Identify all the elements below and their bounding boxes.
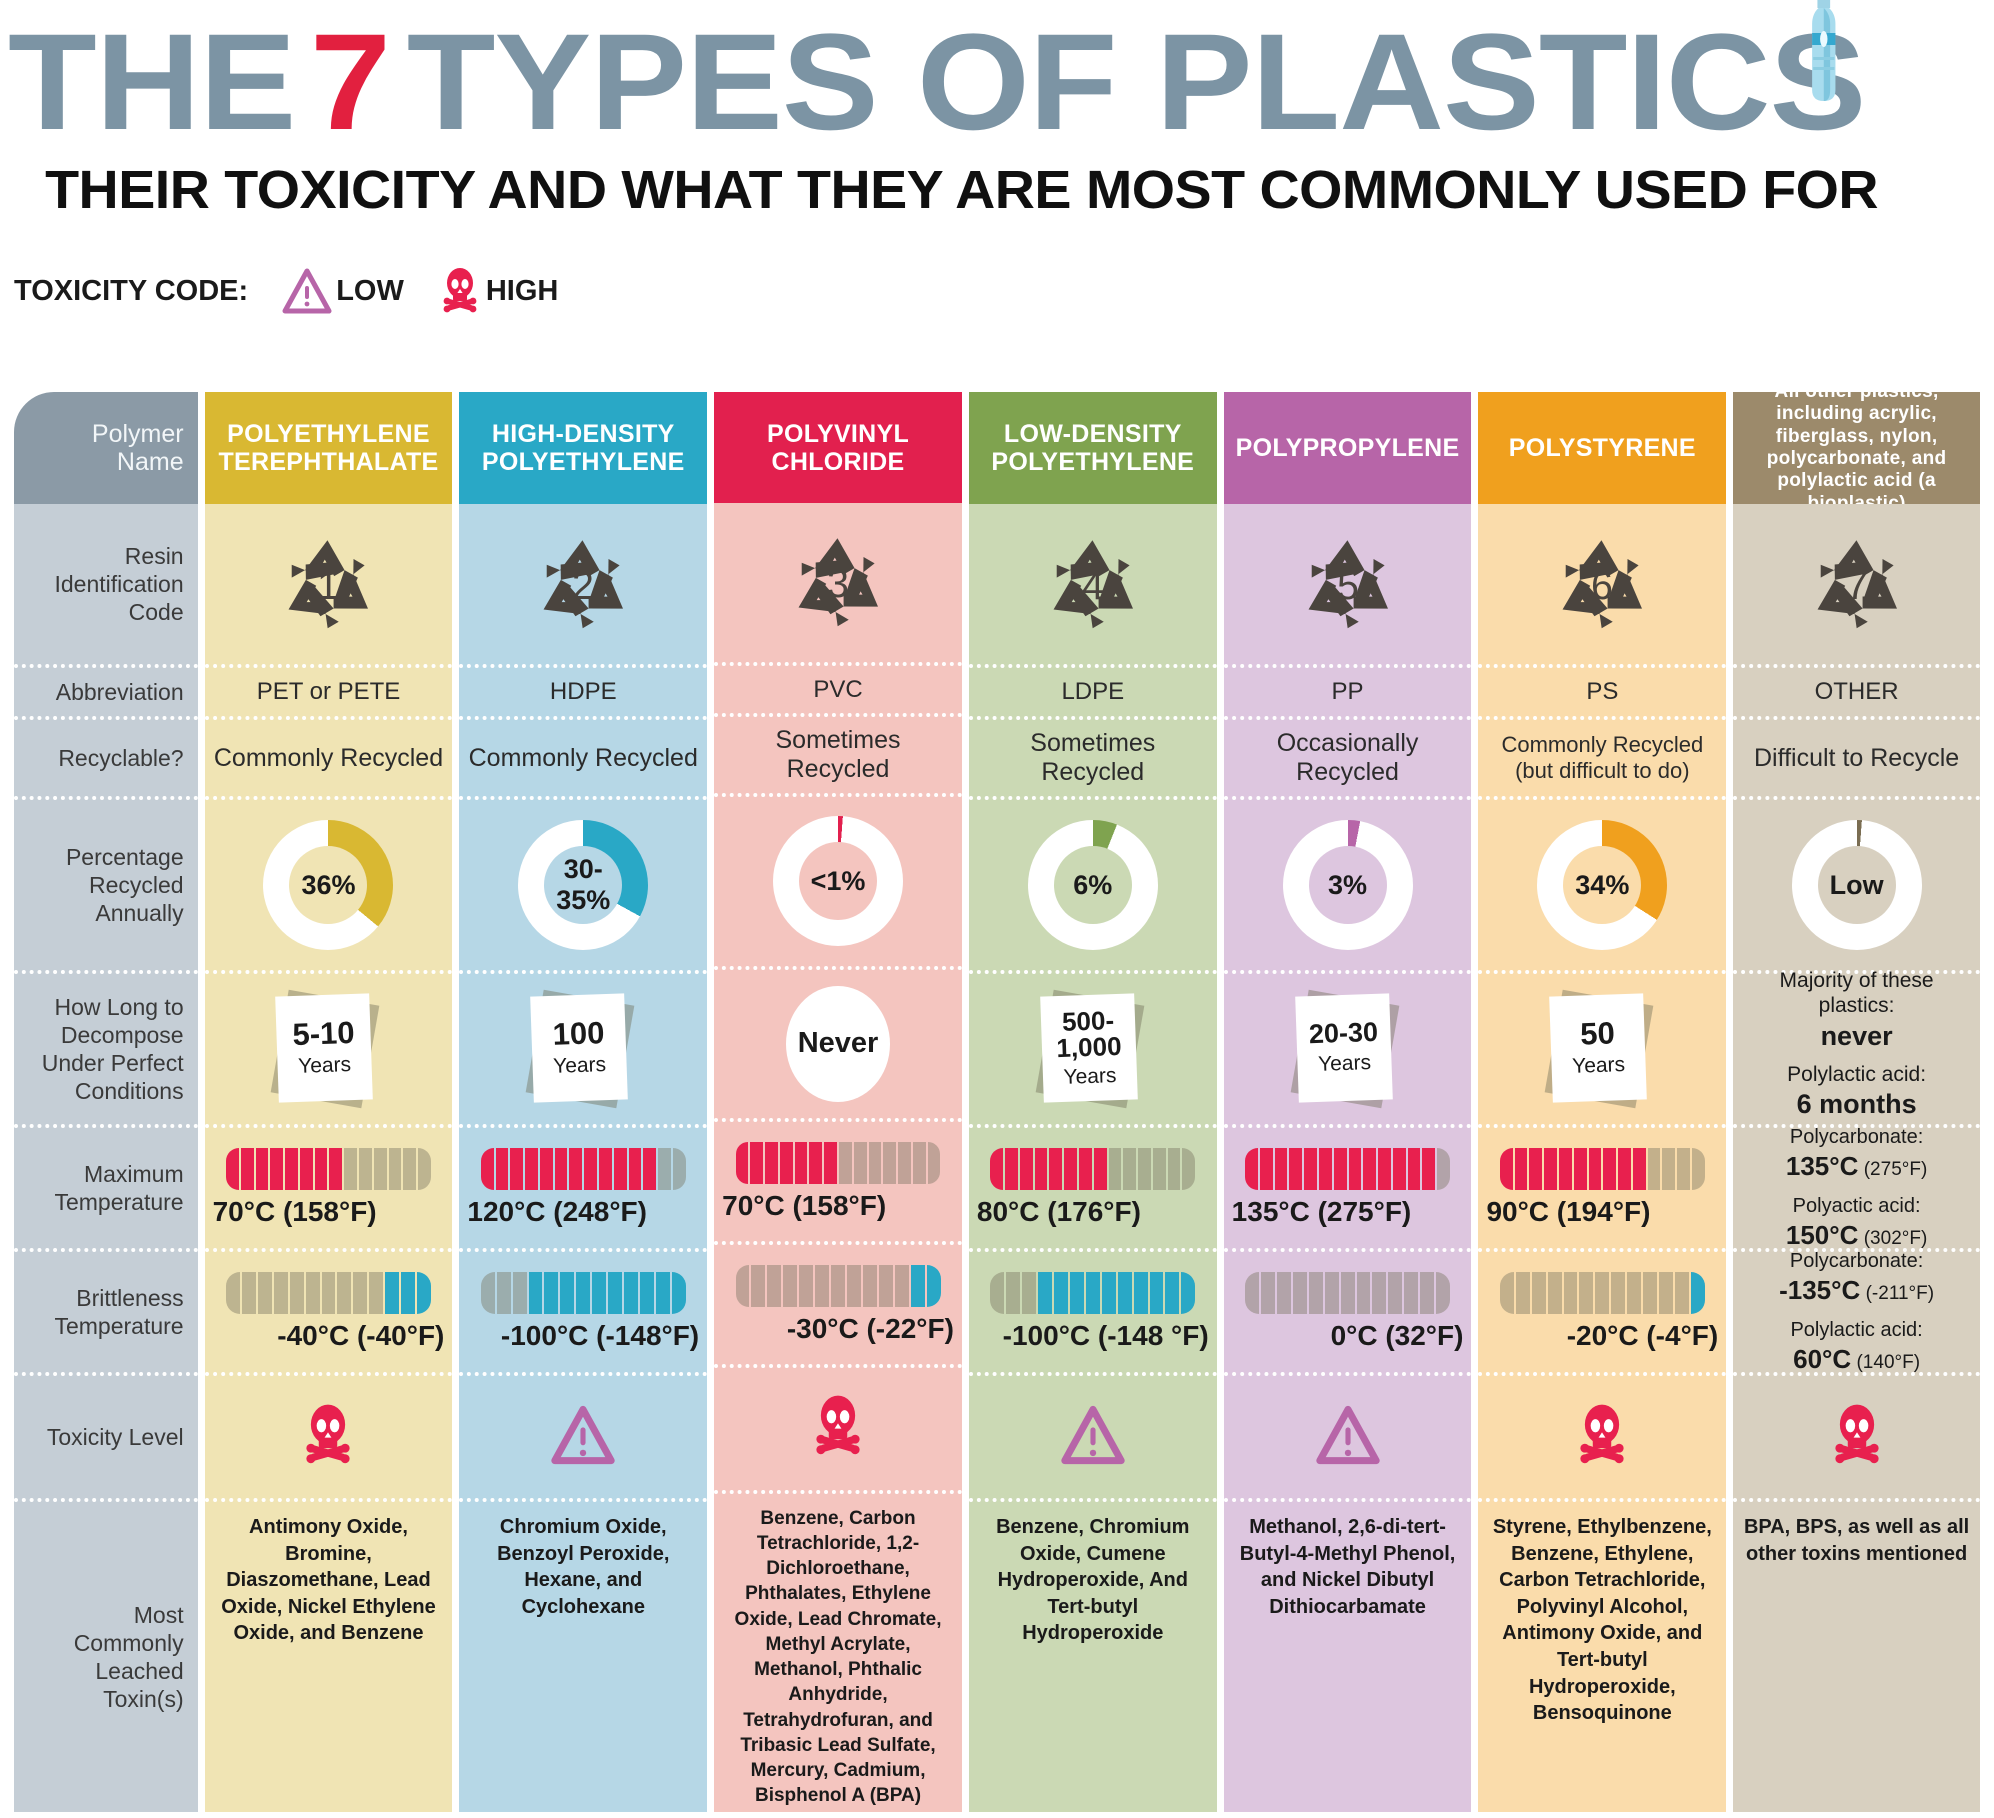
decompose-card-front: 5-10Years bbox=[276, 993, 374, 1102]
abbreviation: PS bbox=[1478, 664, 1726, 716]
brittleness-temperature: -40°C (-40°F) bbox=[205, 1248, 453, 1372]
recycled-percentage-donut: <1% bbox=[773, 816, 903, 946]
temperature-bar-segment bbox=[315, 1148, 328, 1190]
temperature-bar-segment bbox=[1150, 1272, 1164, 1314]
temperature-bar-segment bbox=[1404, 1272, 1418, 1314]
max-value2-f: (302°F) bbox=[1858, 1228, 1927, 1249]
brittleness-temperature: Polycarbonate:-135°C (-211°F)Polylactic … bbox=[1733, 1248, 1980, 1372]
decompose-line2: Polylactic acid: bbox=[1787, 1063, 1926, 1086]
max-line2: Polyactic acid: bbox=[1786, 1194, 1927, 1219]
brittleness-temperature: -100°C (-148 °F) bbox=[969, 1248, 1217, 1372]
plastic-column-2: HIGH-DENSITY POLYETHYLENE2HDPECommonly R… bbox=[459, 392, 707, 1812]
maximum-temperature: 90°C (194°F) bbox=[1478, 1124, 1726, 1248]
decompose-value: 500-1,000 bbox=[1055, 1006, 1122, 1060]
recyclable-status: Occasionally Recycled bbox=[1224, 716, 1472, 796]
decompose-time: 5-10Years bbox=[205, 970, 453, 1124]
recycled-percentage-value: <1% bbox=[799, 842, 877, 920]
percentage-recycled: 30-35% bbox=[459, 796, 707, 970]
column-header-3: POLYVINYL CHLORIDE bbox=[714, 392, 962, 503]
temperature-bar bbox=[736, 1265, 941, 1307]
brittleness-temperature-other: Polycarbonate:-135°C (-211°F)Polylactic … bbox=[1779, 1249, 1934, 1376]
temperature-bar-segment bbox=[1675, 1272, 1689, 1314]
recycling-symbol-icon: 7 bbox=[1793, 525, 1921, 643]
recyclable-status: Commonly Recycled bbox=[459, 716, 707, 796]
temperature-bar-segment bbox=[344, 1148, 357, 1190]
temperature-bar-segment bbox=[913, 1142, 926, 1184]
percentage-recycled: 6% bbox=[969, 796, 1217, 970]
temperature-bar-segment bbox=[285, 1148, 298, 1190]
temperature-bar-segment bbox=[555, 1148, 568, 1190]
temperature-bar bbox=[481, 1272, 686, 1314]
svg-text:1: 1 bbox=[318, 564, 340, 608]
brittleness-temperature-value: -100°C (-148°F) bbox=[501, 1320, 699, 1352]
svg-text:6: 6 bbox=[1591, 564, 1613, 608]
brit-line2: Polylactic acid: bbox=[1779, 1318, 1934, 1343]
decompose-value2: 6 months bbox=[1741, 1088, 1972, 1121]
warning-triangle-icon bbox=[1316, 1405, 1380, 1470]
percentage-recycled: Low bbox=[1733, 796, 1980, 970]
temperature-bar-segment bbox=[290, 1272, 304, 1314]
temperature-bar-segment bbox=[1564, 1272, 1578, 1314]
temperature-bar-segment bbox=[608, 1272, 622, 1314]
temperature-bar-segment bbox=[1662, 1148, 1675, 1190]
maximum-temperature-other: Polycarbonate:135°C (275°F)Polyactic aci… bbox=[1786, 1125, 1927, 1252]
recyclable-text: Occasionally Recycled bbox=[1232, 729, 1464, 787]
spacer bbox=[1779, 1306, 1934, 1318]
temperature-bar-segment bbox=[1574, 1148, 1587, 1190]
temperature-bar bbox=[736, 1142, 941, 1184]
svg-text:3: 3 bbox=[827, 562, 849, 606]
recycling-symbol-icon: 1 bbox=[264, 525, 392, 643]
recycled-percentage-value: 30-35% bbox=[544, 846, 622, 924]
plastic-column-1: POLYETHYLENE TEREPHTHALATE1PET or PETECo… bbox=[205, 392, 453, 1812]
leached-toxins: Chromium Oxide, Benzoyl Peroxide, Hexane… bbox=[459, 1498, 707, 1812]
temperature-bar-segment bbox=[529, 1272, 543, 1314]
warning-triangle-icon bbox=[551, 1405, 615, 1470]
maximum-temperature: 120°C (248°F) bbox=[459, 1124, 707, 1248]
recycled-percentage-donut: 6% bbox=[1028, 820, 1158, 950]
temperature-bar-segment bbox=[510, 1148, 523, 1190]
temperature-bar bbox=[990, 1148, 1195, 1190]
temperature-bar-segment bbox=[1618, 1148, 1631, 1190]
temperature-bar-segment bbox=[624, 1272, 638, 1314]
percentage-recycled: 3% bbox=[1224, 796, 1472, 970]
brit-value1-c: -135°C bbox=[1779, 1275, 1860, 1305]
temperature-bar-segment bbox=[928, 1142, 941, 1184]
temperature-bar-segment bbox=[1393, 1148, 1406, 1190]
decompose-value: 100 bbox=[552, 1017, 605, 1050]
toxicity-level bbox=[1478, 1372, 1726, 1498]
temperature-bar-segment bbox=[673, 1148, 686, 1190]
title-number-seven: 7 bbox=[295, 14, 407, 151]
leached-toxins-text: BPA, BPS, as well as all other toxins me… bbox=[1741, 1514, 1972, 1567]
temperature-bar-segment bbox=[369, 1272, 383, 1314]
temperature-bar-segment bbox=[751, 1265, 765, 1307]
decompose-unit: Years bbox=[298, 1053, 352, 1079]
decompose-time: 50Years bbox=[1478, 970, 1726, 1124]
decompose-unit: Years bbox=[1572, 1053, 1626, 1079]
recyclable-status: Sometimes Recycled bbox=[969, 716, 1217, 796]
temperature-bar-segment bbox=[306, 1272, 320, 1314]
row-label-polymer-name: Polymer Name bbox=[14, 392, 198, 504]
leached-toxins-text: Styrene, Ethylbenzene, Benzene, Ethylene… bbox=[1486, 1514, 1718, 1727]
skull-crossbones-icon bbox=[1573, 1403, 1631, 1472]
row-label-1: Resin Identification Code bbox=[14, 504, 198, 664]
temperature-bar-segment bbox=[1153, 1148, 1166, 1190]
temperature-bar-segment bbox=[1319, 1148, 1332, 1190]
brittleness-temperature-value: 0°C (32°F) bbox=[1331, 1320, 1464, 1352]
temperature-bar-segment bbox=[359, 1148, 372, 1190]
temperature-bar-segment bbox=[513, 1272, 527, 1314]
temperature-bar-segment bbox=[1277, 1272, 1291, 1314]
abbreviation-text: LDPE bbox=[1061, 678, 1124, 706]
temperature-bar-segment bbox=[1035, 1148, 1048, 1190]
temperature-bar-segment bbox=[1109, 1148, 1122, 1190]
max-value2-c: 150°C bbox=[1786, 1220, 1859, 1250]
row-label-4: Percentage Recycled Annually bbox=[14, 796, 198, 970]
brittleness-temperature: -30°C (-22°F) bbox=[714, 1241, 962, 1364]
toxicity-level bbox=[1733, 1372, 1980, 1498]
temperature-bar-segment bbox=[1363, 1148, 1376, 1190]
temperature-bar-segment bbox=[496, 1148, 509, 1190]
temperature-bar-segment bbox=[1357, 1272, 1371, 1314]
abbreviation: OTHER bbox=[1733, 664, 1980, 716]
temperature-bar-segment bbox=[599, 1148, 612, 1190]
recycling-symbol-icon: 2 bbox=[519, 525, 647, 643]
resin-identification-code: 1 bbox=[205, 504, 453, 664]
toxicity-level bbox=[459, 1372, 707, 1498]
temperature-bar-segment bbox=[1245, 1272, 1259, 1314]
temperature-bar-segment bbox=[1165, 1272, 1179, 1314]
temperature-bar-segment bbox=[990, 1148, 1003, 1190]
maximum-temperature: 135°C (275°F) bbox=[1224, 1124, 1472, 1248]
temperature-bar-segment bbox=[879, 1265, 893, 1307]
temperature-bar-segment bbox=[1070, 1272, 1084, 1314]
decompose-value: 50 bbox=[1580, 1017, 1616, 1049]
temperature-bar-segment bbox=[799, 1265, 813, 1307]
maximum-temperature: 80°C (176°F) bbox=[969, 1124, 1217, 1248]
temperature-bar-segment bbox=[540, 1148, 553, 1190]
legend-high-label: HIGH bbox=[486, 275, 559, 308]
temperature-bar-segment bbox=[274, 1272, 288, 1314]
temperature-bar bbox=[990, 1272, 1195, 1314]
abbreviation-text: PET or PETE bbox=[257, 678, 401, 706]
recyclable-text: Sometimes Recycled bbox=[977, 729, 1209, 787]
recyclable-text: Sometimes Recycled bbox=[722, 726, 954, 784]
max-value1-c: 135°C bbox=[1786, 1151, 1859, 1181]
temperature-bar bbox=[1245, 1272, 1450, 1314]
temperature-bar-segment bbox=[656, 1272, 670, 1314]
temperature-bar-segment bbox=[847, 1265, 861, 1307]
title-post: TYPES OF PLASTICS bbox=[407, 14, 1866, 151]
temperature-bar-segment bbox=[1408, 1148, 1421, 1190]
brittleness-temperature: 0°C (32°F) bbox=[1224, 1248, 1472, 1372]
temperature-bar-segment bbox=[898, 1142, 911, 1184]
decompose-value: 20-30 bbox=[1308, 1019, 1378, 1048]
temperature-bar-segment bbox=[1064, 1148, 1077, 1190]
legend-low-label: LOW bbox=[336, 275, 404, 308]
decompose-other-text: Majority of these plastics:neverPolylact… bbox=[1741, 968, 1972, 1131]
spacer bbox=[1786, 1182, 1927, 1194]
recyclable-text: Commonly Recycled bbox=[469, 744, 698, 773]
maximum-temperature: 70°C (158°F) bbox=[205, 1124, 453, 1248]
row-label-9: Most Commonly Leached Toxin(s) bbox=[14, 1498, 198, 1812]
temperature-bar-segment bbox=[1422, 1148, 1435, 1190]
temperature-bar-segment bbox=[584, 1148, 597, 1190]
maximum-temperature-value: 120°C (248°F) bbox=[467, 1196, 647, 1228]
temperature-bar-segment bbox=[1372, 1272, 1386, 1314]
brittleness-temperature-value: -20°C (-4°F) bbox=[1567, 1320, 1719, 1352]
plastics-table: Polymer NameResin Identification CodeAbb… bbox=[14, 392, 1980, 1812]
maximum-temperature-value: 90°C (194°F) bbox=[1486, 1196, 1650, 1228]
temperature-bar-segment bbox=[839, 1142, 852, 1184]
temperature-bar bbox=[1245, 1148, 1450, 1190]
temperature-bar-segment bbox=[1289, 1148, 1302, 1190]
recycling-symbol-icon: 6 bbox=[1538, 525, 1666, 643]
recycling-symbol-icon: 5 bbox=[1284, 525, 1412, 643]
temperature-bar-segment bbox=[1325, 1272, 1339, 1314]
temperature-bar-segment bbox=[1094, 1148, 1107, 1190]
temperature-bar-segment bbox=[337, 1272, 351, 1314]
temperature-bar-segment bbox=[672, 1272, 686, 1314]
temperature-bar-segment bbox=[1633, 1148, 1646, 1190]
temperature-bar-segment bbox=[1293, 1272, 1307, 1314]
temperature-bar-segment bbox=[1500, 1148, 1513, 1190]
decompose-unit: Years bbox=[553, 1053, 607, 1079]
temperature-bar-segment bbox=[374, 1148, 387, 1190]
temperature-bar-segment bbox=[824, 1142, 837, 1184]
temperature-bar-segment bbox=[990, 1272, 1004, 1314]
temperature-bar-segment bbox=[1181, 1272, 1195, 1314]
temperature-bar-segment bbox=[1054, 1272, 1068, 1314]
temperature-bar-segment bbox=[1134, 1272, 1148, 1314]
decompose-card: 500-1,000Years bbox=[1034, 993, 1152, 1105]
temperature-bar-segment bbox=[1436, 1272, 1450, 1314]
temperature-bar-segment bbox=[1275, 1148, 1288, 1190]
resin-identification-code: 3 bbox=[714, 503, 962, 662]
recycling-symbol-icon: 4 bbox=[1029, 525, 1157, 643]
temperature-bar-segment bbox=[883, 1142, 896, 1184]
decompose-time: 20-30Years bbox=[1224, 970, 1472, 1124]
brit-value1-f: (-211°F) bbox=[1860, 1283, 1934, 1304]
temperature-bar bbox=[481, 1148, 686, 1190]
temperature-bar-segment bbox=[1516, 1272, 1530, 1314]
plastic-column-4: LOW-DENSITY POLYETHYLENE4LDPESometimes R… bbox=[969, 392, 1217, 1812]
recycled-percentage-donut: Low bbox=[1792, 820, 1922, 950]
row-label-8: Toxicity Level bbox=[14, 1372, 198, 1498]
leached-toxins-text: Methanol, 2,6-di-tert-Butyl-4-Methyl Phe… bbox=[1232, 1514, 1464, 1620]
recycled-percentage-donut: 30-35% bbox=[518, 820, 648, 950]
infographic-page: THE 7 TYPES OF PLASTICS THEIR TOXICITY A… bbox=[0, 0, 1994, 1818]
column-header-4: LOW-DENSITY POLYETHYLENE bbox=[969, 392, 1217, 504]
recycled-percentage-value: 36% bbox=[289, 846, 367, 924]
recyclable-text: Commonly Recycled bbox=[214, 744, 443, 773]
temperature-bar-segment bbox=[869, 1142, 882, 1184]
temperature-bar-segment bbox=[1532, 1272, 1546, 1314]
toxicity-legend: TOXICITY CODE: LOW bbox=[14, 263, 1994, 319]
temperature-bar-segment bbox=[736, 1265, 750, 1307]
percentage-recycled: 36% bbox=[205, 796, 453, 970]
decompose-card: 100Years bbox=[524, 993, 642, 1105]
temperature-bar-segment bbox=[1138, 1148, 1151, 1190]
resin-identification-code: 6 bbox=[1478, 504, 1726, 664]
maximum-temperature-value: 70°C (158°F) bbox=[722, 1190, 886, 1222]
title-pre: THE bbox=[8, 14, 295, 151]
decompose-card-front: 100Years bbox=[530, 993, 628, 1102]
temperature-bar-segment bbox=[226, 1148, 239, 1190]
decompose-card: 5-10Years bbox=[269, 993, 387, 1105]
temperature-bar-segment bbox=[1020, 1148, 1033, 1190]
plastic-column-3: POLYVINYL CHLORIDE3PVCSometimes Recycled… bbox=[714, 392, 962, 1812]
temperature-bar-segment bbox=[544, 1272, 558, 1314]
maximum-temperature-value: 135°C (275°F) bbox=[1232, 1196, 1412, 1228]
warning-triangle-icon bbox=[1061, 1405, 1125, 1470]
skull-crossbones-icon bbox=[809, 1394, 867, 1463]
temperature-bar-segment bbox=[1341, 1272, 1355, 1314]
decompose-card: 20-30Years bbox=[1289, 993, 1407, 1105]
temperature-bar-segment bbox=[1420, 1272, 1434, 1314]
abbreviation: PVC bbox=[714, 662, 962, 714]
temperature-bar-segment bbox=[1529, 1148, 1542, 1190]
recyclable-status: Commonly Recycled bbox=[205, 716, 453, 796]
temperature-bar-segment bbox=[1182, 1148, 1195, 1190]
plastic-column-6: POLYSTYRENE6PSCommonly Recycled (but dif… bbox=[1478, 392, 1726, 1812]
temperature-bar-segment bbox=[643, 1148, 656, 1190]
decompose-time: 500-1,000Years bbox=[969, 970, 1217, 1124]
column-header-5: POLYPROPYLENE bbox=[1224, 392, 1472, 504]
temperature-bar-segment bbox=[765, 1142, 778, 1184]
temperature-bar-segment bbox=[385, 1272, 399, 1314]
temperature-bar-segment bbox=[1349, 1148, 1362, 1190]
water-bottle-icon bbox=[1806, 0, 1842, 103]
toxicity-level bbox=[969, 1372, 1217, 1498]
recyclable-text: Difficult to Recycle bbox=[1754, 744, 1959, 773]
temperature-bar-segment bbox=[1659, 1272, 1673, 1314]
temperature-bar-segment bbox=[1595, 1272, 1609, 1314]
temperature-bar-segment bbox=[1022, 1272, 1036, 1314]
temperature-bar-segment bbox=[640, 1272, 654, 1314]
recycled-percentage-value: Low bbox=[1818, 846, 1896, 924]
resin-identification-code: 4 bbox=[969, 504, 1217, 664]
temperature-bar-segment bbox=[1579, 1272, 1593, 1314]
temperature-bar-segment bbox=[783, 1265, 797, 1307]
recyclable-status: Difficult to Recycle bbox=[1733, 716, 1980, 796]
temperature-bar-segment bbox=[767, 1265, 781, 1307]
temperature-bar-segment bbox=[226, 1272, 240, 1314]
temperature-bar-segment bbox=[1334, 1148, 1347, 1190]
abbreviation: PET or PETE bbox=[205, 664, 453, 716]
temperature-bar-segment bbox=[481, 1272, 495, 1314]
temperature-bar-segment bbox=[256, 1148, 269, 1190]
temperature-bar-segment bbox=[895, 1265, 909, 1307]
svg-text:7: 7 bbox=[1846, 564, 1868, 608]
temperature-bar-segment bbox=[403, 1148, 416, 1190]
temperature-bar-segment bbox=[1261, 1272, 1275, 1314]
temperature-bar-segment bbox=[1260, 1148, 1273, 1190]
brit-value2-f: (140°F) bbox=[1851, 1352, 1920, 1373]
recycling-symbol-icon: 3 bbox=[774, 523, 902, 641]
temperature-bar-segment bbox=[1378, 1148, 1391, 1190]
brittleness-temperature-value: -40°C (-40°F) bbox=[277, 1320, 444, 1352]
recycled-percentage-value: 34% bbox=[1563, 846, 1641, 924]
leached-toxins: Styrene, Ethylbenzene, Benzene, Ethylene… bbox=[1478, 1498, 1726, 1812]
temperature-bar-segment bbox=[750, 1142, 763, 1184]
toxicity-level bbox=[205, 1372, 453, 1498]
maximum-temperature: Polycarbonate:135°C (275°F)Polyactic aci… bbox=[1733, 1124, 1980, 1248]
max-line1: Polycarbonate: bbox=[1786, 1125, 1927, 1150]
temperature-bar-segment bbox=[1611, 1272, 1625, 1314]
temperature-bar-segment bbox=[241, 1148, 254, 1190]
recyclable-text: Commonly Recycled (but difficult to do) bbox=[1486, 732, 1718, 783]
temperature-bar-segment bbox=[1643, 1272, 1657, 1314]
temperature-bar-segment bbox=[569, 1148, 582, 1190]
temperature-bar-segment bbox=[614, 1148, 627, 1190]
brittleness-temperature: -100°C (-148°F) bbox=[459, 1248, 707, 1372]
recycled-percentage-donut: 3% bbox=[1283, 820, 1413, 950]
temperature-bar-segment bbox=[1691, 1272, 1705, 1314]
temperature-bar-segment bbox=[1086, 1272, 1100, 1314]
resin-identification-code: 5 bbox=[1224, 504, 1472, 664]
decompose-never: Never bbox=[786, 986, 890, 1102]
temperature-bar-segment bbox=[1123, 1148, 1136, 1190]
column-header-7: All other plastics, including acrylic, f… bbox=[1733, 392, 1980, 504]
row-label-2: Abbreviation bbox=[14, 664, 198, 716]
temperature-bar-segment bbox=[658, 1148, 671, 1190]
svg-text:4: 4 bbox=[1082, 564, 1104, 608]
recyclable-status: Commonly Recycled (but difficult to do) bbox=[1478, 716, 1726, 796]
brittleness-temperature: -20°C (-4°F) bbox=[1478, 1248, 1726, 1372]
recycled-percentage-donut: 36% bbox=[263, 820, 393, 950]
temperature-bar-segment bbox=[1304, 1148, 1317, 1190]
temperature-bar-segment bbox=[1677, 1148, 1690, 1190]
recycled-percentage-donut: 34% bbox=[1537, 820, 1667, 950]
decompose-time: 100Years bbox=[459, 970, 707, 1124]
decompose-line1: Majority of these plastics: bbox=[1780, 969, 1934, 1018]
row-label-5: How Long to Decompose Under Perfect Cond… bbox=[14, 970, 198, 1124]
abbreviation-text: OTHER bbox=[1815, 678, 1899, 706]
temperature-bar-segment bbox=[809, 1142, 822, 1184]
temperature-bar-segment bbox=[1437, 1148, 1450, 1190]
temperature-bar-segment bbox=[418, 1148, 431, 1190]
temperature-bar bbox=[226, 1272, 431, 1314]
temperature-bar-segment bbox=[1548, 1272, 1562, 1314]
skull-crossbones-icon bbox=[299, 1403, 357, 1472]
temperature-bar-segment bbox=[780, 1142, 793, 1184]
warning-triangle-icon bbox=[282, 268, 332, 314]
leached-toxins-text: Benzene, Carbon Tetrachloride, 1,2-Dichl… bbox=[722, 1506, 954, 1809]
temperature-bar-segment bbox=[927, 1265, 941, 1307]
temperature-bar-segment bbox=[1388, 1272, 1402, 1314]
max-value1: 135°C (275°F) bbox=[1786, 1150, 1927, 1183]
leached-toxins: Benzene, Carbon Tetrachloride, 1,2-Dichl… bbox=[714, 1490, 962, 1812]
temperature-bar-segment bbox=[592, 1272, 606, 1314]
temperature-bar-segment bbox=[300, 1148, 313, 1190]
temperature-bar-segment bbox=[525, 1148, 538, 1190]
temperature-bar-segment bbox=[1102, 1272, 1116, 1314]
brit-value2-c: 60°C bbox=[1793, 1344, 1851, 1374]
recyclable-status: Sometimes Recycled bbox=[714, 713, 962, 792]
temperature-bar-segment bbox=[1627, 1272, 1641, 1314]
leached-toxins-text: Benzene, Chromium Oxide, Cumene Hydroper… bbox=[977, 1514, 1209, 1647]
decompose-unit: Years bbox=[1317, 1051, 1371, 1077]
abbreviation: LDPE bbox=[969, 664, 1217, 716]
legend-item-high: HIGH bbox=[438, 267, 559, 315]
title-block: THE 7 TYPES OF PLASTICS THEIR TOXICITY A… bbox=[0, 0, 1994, 221]
recycled-percentage-value: 3% bbox=[1309, 846, 1387, 924]
maximum-temperature: 70°C (158°F) bbox=[714, 1118, 962, 1241]
decompose-value: 5-10 bbox=[292, 1017, 355, 1050]
temperature-bar-segment bbox=[1038, 1272, 1052, 1314]
